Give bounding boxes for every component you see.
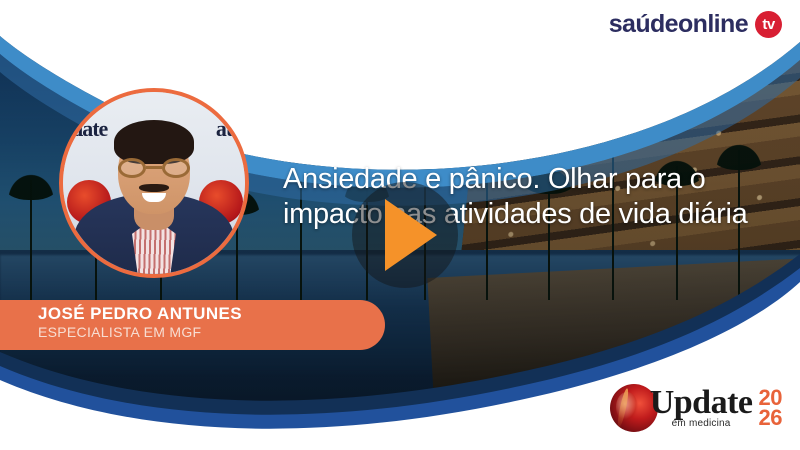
update-wordmark-wrap: Update em medicina xyxy=(650,387,753,428)
speaker-portrait-avatar: date ate xyxy=(59,88,249,278)
video-thumbnail-card: saúdeonline tv date ate Ansiedade e pâni… xyxy=(0,0,800,450)
play-triangle-icon xyxy=(385,199,437,271)
portrait-backdrop-logo-right: ate xyxy=(216,116,241,142)
saudeonline-tv-logo[interactable]: saúdeonline tv xyxy=(609,11,782,38)
speaker-role: ESPECIALISTA EM MGF xyxy=(38,324,385,342)
speaker-name: JOSÉ PEDRO ANTUNES xyxy=(38,304,385,324)
update-em-medicina-logo[interactable]: Update em medicina 20 26 xyxy=(610,384,782,432)
portrait-glasses-icon xyxy=(118,158,190,178)
update-wordmark: Update xyxy=(650,384,753,421)
glasses-lens-left xyxy=(118,158,146,178)
speaker-name-banner: JOSÉ PEDRO ANTUNES ESPECIALISTA EM MGF xyxy=(0,300,385,350)
glasses-bridge xyxy=(146,166,162,169)
tv-badge-icon: tv xyxy=(755,11,782,38)
logo-wordmark: saúdeonline xyxy=(609,12,748,37)
play-button[interactable] xyxy=(352,182,458,288)
glasses-lens-right xyxy=(162,158,190,178)
update-year-bottom: 26 xyxy=(759,408,782,428)
portrait-backdrop-logo-left: date xyxy=(71,116,107,142)
portrait-moustache xyxy=(139,184,169,192)
update-year: 20 26 xyxy=(757,388,782,428)
